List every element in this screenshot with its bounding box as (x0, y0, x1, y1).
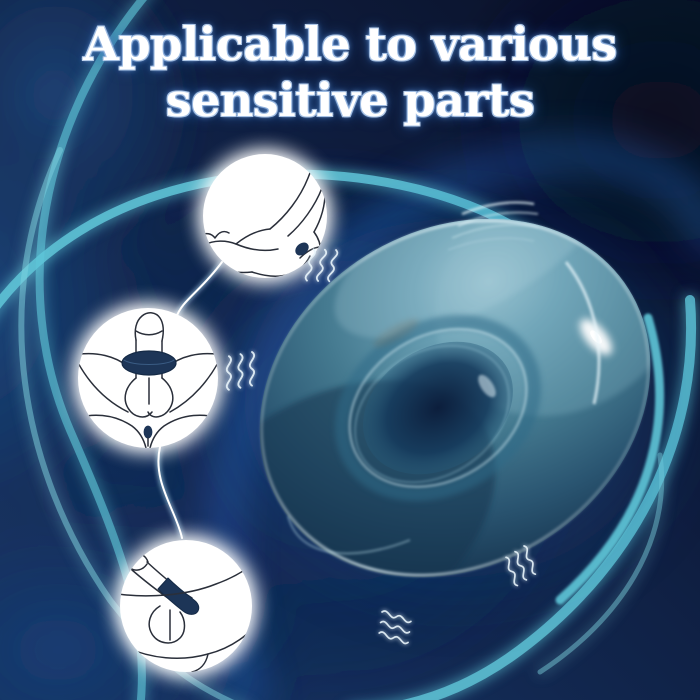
vibration-marks-layer (0, 0, 700, 700)
vibration-mark-mid-left (227, 352, 254, 390)
product-banner-canvas: Applicable to various sensitive parts (0, 0, 700, 700)
vibration-mark-top-left (305, 245, 338, 286)
vibration-mark-bottom-right (503, 545, 539, 586)
vibration-mark-bottom (375, 610, 415, 644)
vibration-marks (227, 245, 539, 644)
